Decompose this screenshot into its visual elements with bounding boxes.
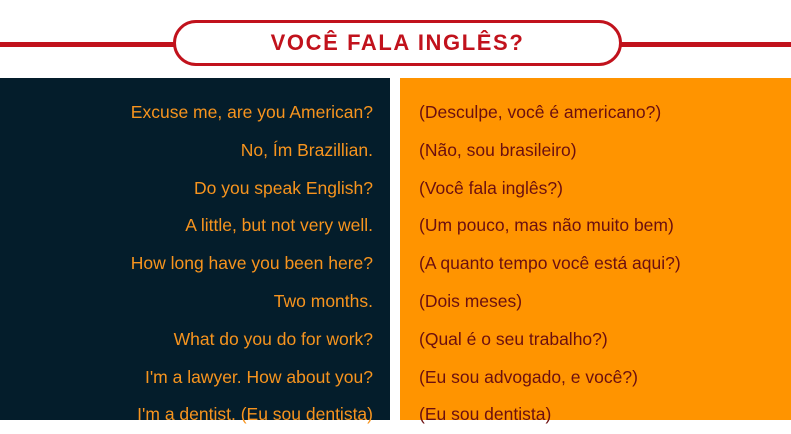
header-rule-left [0,42,178,47]
english-line: I'm a dentist. (Eu sou dentista) [10,396,373,434]
portuguese-line: (Um pouco, mas não muito bem) [419,207,781,245]
portuguese-line: (Desculpe, você é americano?) [419,94,781,132]
english-line: How long have you been here? [10,245,373,283]
english-line: Two months. [10,283,373,321]
portuguese-line: (Não, sou brasileiro) [419,132,781,170]
page-root: VOCÊ FALA INGLÊS? Excuse me, are you Ame… [0,0,791,434]
english-phrases-panel: Excuse me, are you American? No, Ím Braz… [0,78,390,420]
title-pill: VOCÊ FALA INGLÊS? [173,20,622,66]
english-line: I'm a lawyer. How about you? [10,359,373,397]
portuguese-line: (Qual é o seu trabalho?) [419,321,781,359]
portuguese-line: (Você fala inglês?) [419,170,781,208]
english-line: Do you speak English? [10,170,373,208]
portuguese-translations-panel: (Desculpe, você é americano?) (Não, sou … [400,78,791,420]
english-line: What do you do for work? [10,321,373,359]
english-line: Excuse me, are you American? [10,94,373,132]
portuguese-line: (A quanto tempo você está aqui?) [419,245,781,283]
english-line: No, Ím Brazillian. [10,132,373,170]
page-title: VOCÊ FALA INGLÊS? [271,32,525,54]
dialogue-panels: Excuse me, are you American? No, Ím Braz… [0,78,791,420]
header-banner: VOCÊ FALA INGLÊS? [0,0,791,78]
portuguese-line: (Eu sou dentista) [419,396,781,434]
english-line: A little, but not very well. [10,207,373,245]
portuguese-line: (Dois meses) [419,283,781,321]
header-rule-right [616,42,791,47]
portuguese-line: (Eu sou advogado, e você?) [419,359,781,397]
